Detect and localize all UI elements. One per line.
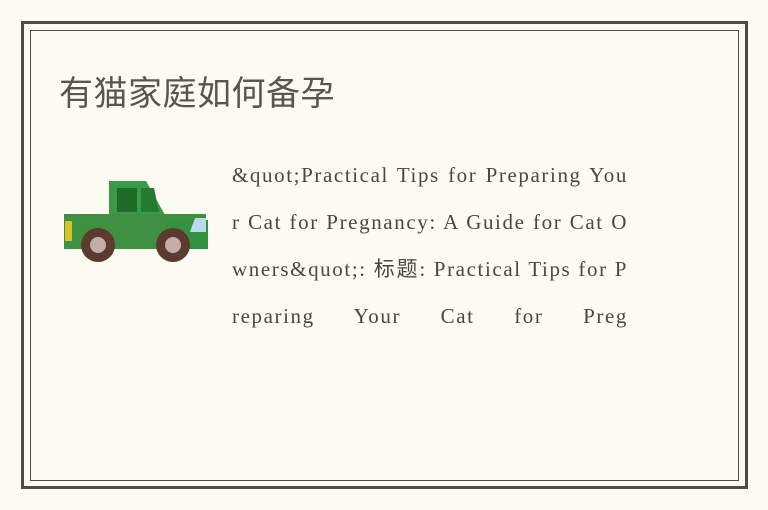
page-title: 有猫家庭如何备孕 [59, 66, 335, 115]
green-pickup-truck-icon [62, 174, 212, 266]
card-content: 有猫家庭如何备孕 [30, 30, 739, 481]
page-root: 有猫家庭如何备孕 [0, 0, 768, 510]
article-text: &quot;Practical Tips for Preparing Your … [232, 152, 628, 340]
